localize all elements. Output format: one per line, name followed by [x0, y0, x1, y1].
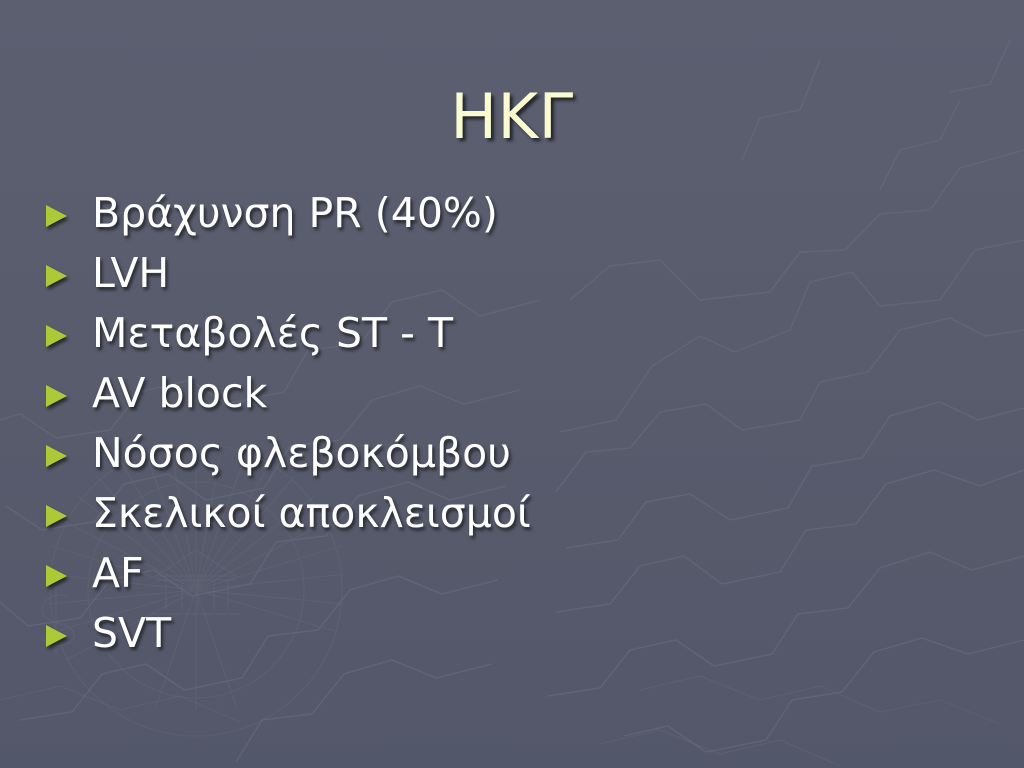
triangle-right-icon	[44, 562, 70, 588]
triangle-right-icon	[44, 622, 70, 648]
list-item-label: Νόσος φλεβοκόμβου	[92, 432, 511, 475]
list-item[interactable]: Βράχυνση PR (40%)	[44, 184, 974, 244]
list-item[interactable]: Νόσος φλεβοκόμβου	[44, 424, 974, 484]
triangle-right-icon	[44, 202, 70, 228]
page-title: ΗΚΓ	[450, 86, 573, 148]
slide-title-block: ΗΚΓ	[0, 44, 1024, 189]
list-item[interactable]: SVT	[44, 604, 974, 664]
list-item-label: AF	[92, 552, 144, 595]
list-item-label: Σκελικοί αποκλεισμοί	[92, 492, 531, 535]
triangle-right-icon	[44, 262, 70, 288]
triangle-right-icon	[44, 442, 70, 468]
bullet-list: Βράχυνση PR (40%) LVH Μεταβολές ST - T A…	[44, 184, 974, 664]
list-item[interactable]: AF	[44, 544, 974, 604]
triangle-right-icon	[44, 502, 70, 528]
triangle-right-icon	[44, 382, 70, 408]
list-item[interactable]: LVH	[44, 244, 974, 304]
list-item-label: LVH	[92, 252, 169, 295]
list-item-label: Μεταβολές ST - T	[92, 312, 453, 355]
presentation-slide: ΗΚΓ Βράχυνση PR (40%) LVH Μεταβολές ST -…	[0, 0, 1024, 768]
list-item[interactable]: Μεταβολές ST - T	[44, 304, 974, 364]
list-item[interactable]: AV block	[44, 364, 974, 424]
triangle-right-icon	[44, 322, 70, 348]
list-item-label: SVT	[92, 612, 171, 655]
list-item-label: Βράχυνση PR (40%)	[92, 192, 498, 235]
list-item[interactable]: Σκελικοί αποκλεισμοί	[44, 484, 974, 544]
list-item-label: AV block	[92, 372, 267, 415]
